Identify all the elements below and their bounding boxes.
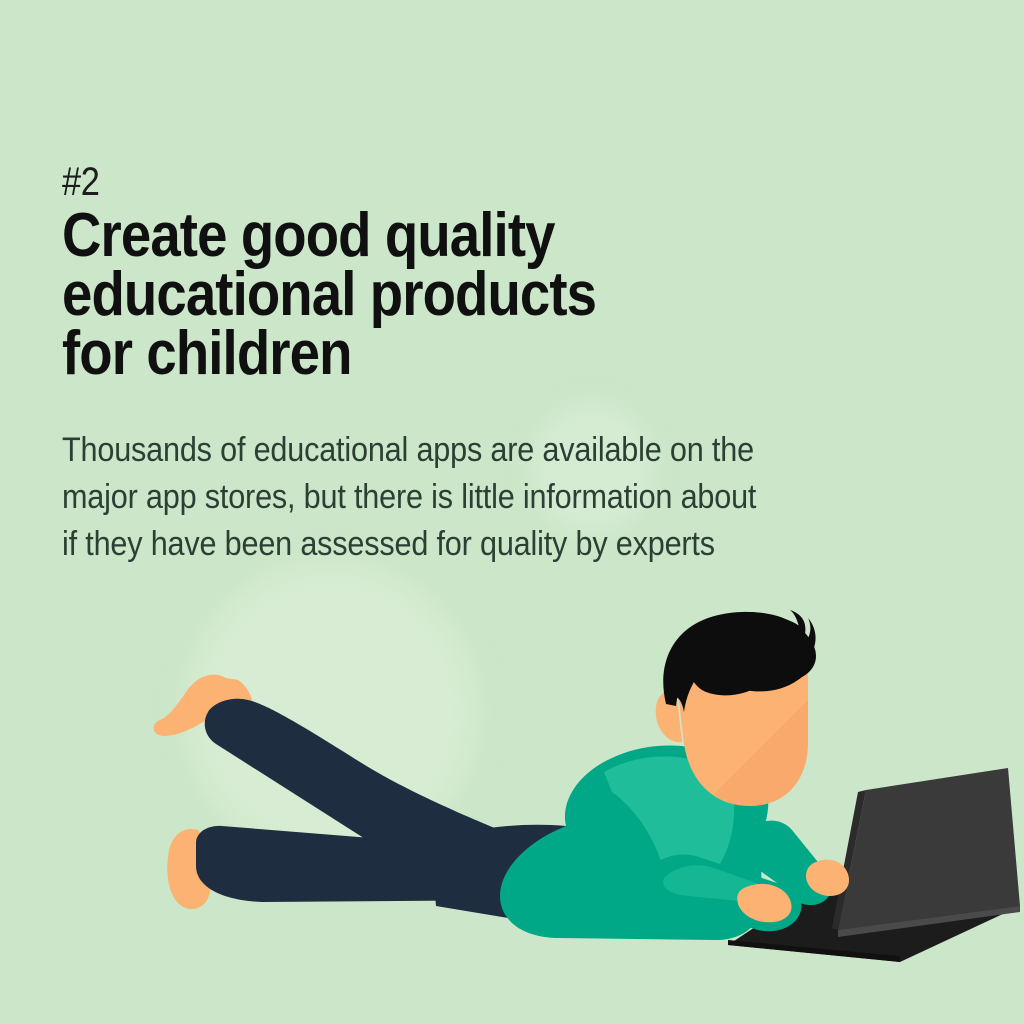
slide-canvas: #2 Create good quality educational produ… <box>0 0 1024 1024</box>
illustration-person-with-laptop <box>0 0 1024 1024</box>
